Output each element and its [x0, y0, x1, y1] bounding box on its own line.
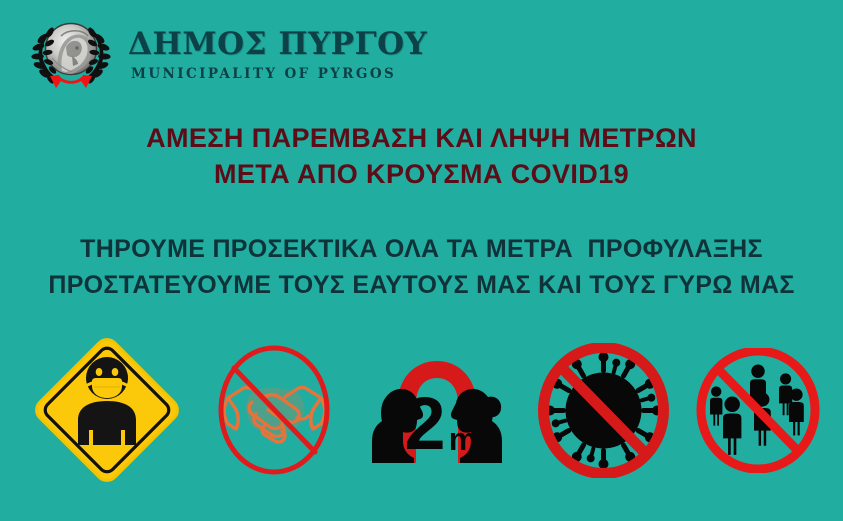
headline-line-2: ΜΕΤΑ ΑΠΟ ΚΡΟΥΣΜΑ COVID19 — [0, 156, 843, 192]
subhead-line-2: ΠΡΟΣΤΑΤΕΥΟΥΜΕ ΤΟΥΣ ΕΑΥΤΟΥΣ ΜΑΣ ΚΑΙ ΤΟΥΣ … — [0, 267, 843, 303]
wordmark: ΔΗΜΟΣ ΠΥΡΓΟΥ MUNICIPALITY OF PYRGOS — [128, 26, 427, 82]
precaution-icon-row: 2 m — [0, 330, 843, 490]
covid-measures-poster: ΔΗΜΟΣ ΠΥΡΓΟΥ MUNICIPALITY OF PYRGOS ΑΜΕΣ… — [0, 0, 843, 521]
municipality-title-greek: ΔΗΜΟΣ ΠΥΡΓΟΥ — [128, 28, 427, 61]
municipality-title-english: MUNICIPALITY OF PYRGOS — [131, 66, 427, 82]
distance-unit: m — [448, 421, 476, 457]
keep-distance-2m-icon: 2 m — [362, 345, 512, 475]
subhead: ΤΗΡΟΥΜΕ ΠΡΟΣΕΚΤΙΚΑ ΟΛΑ ΤΑ ΜΕΤΡΑ ΠΡΟΦΥΛΑΞ… — [0, 231, 843, 304]
headline-line-1: ΑΜΕΣΗ ΠΑΡΕΜΒΑΣΗ ΚΑΙ ΛΗΨΗ ΜΕΤΡΩΝ — [0, 120, 843, 156]
headline: ΑΜΕΣΗ ΠΑΡΕΜΒΑΣΗ ΚΑΙ ΛΗΨΗ ΜΕΤΡΩΝ ΜΕΤΑ ΑΠΟ… — [0, 120, 843, 193]
pyrgos-coat-of-arms-icon — [28, 14, 114, 94]
distance-value: 2 — [404, 382, 445, 465]
no-coronavirus-icon — [536, 343, 671, 478]
no-handshake-icon — [212, 340, 337, 480]
subhead-line-1: ΤΗΡΟΥΜΕ ΠΡΟΣΕΚΤΙΚΑ ΟΛΑ ΤΑ ΜΕΤΡΑ ΠΡΟΦΥΛΑΞ… — [0, 231, 843, 267]
no-gatherings-icon — [696, 348, 821, 473]
municipality-header: ΔΗΜΟΣ ΠΥΡΓΟΥ MUNICIPALITY OF PYRGOS — [28, 14, 427, 94]
wear-face-mask-warning-sign-icon — [22, 330, 187, 490]
